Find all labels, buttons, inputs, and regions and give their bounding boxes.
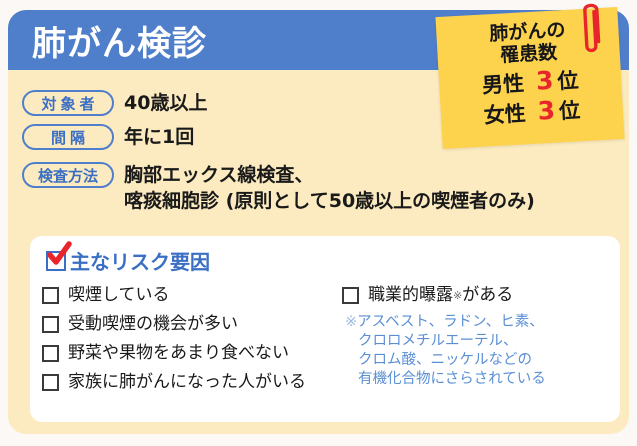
rank-unit-female: 位 [558, 99, 580, 124]
checkbox-icon[interactable] [42, 374, 59, 391]
info-value-method-line2: 喀痰細胞診 (原則として50歳以上の喫煙者のみ) [124, 188, 535, 215]
rank-group-male: 男性 [481, 71, 524, 97]
label-pill-method: 検査方法 [22, 162, 114, 188]
risk-list-left: 喫煙している 受動喫煙の機会が多い 野菜や果物をあまり食べない 家族に肺がんにな… [42, 284, 342, 400]
footnote-line-1-text: アスベスト、ラドン、ヒ素、 [357, 314, 544, 330]
list-item[interactable]: 家族に肺がんになった人がいる [42, 371, 342, 394]
paperclip-icon [573, 1, 606, 61]
list-item[interactable]: 職業的曝露※がある [342, 284, 612, 307]
page-title: 肺がん検診 [32, 16, 207, 65]
list-item[interactable]: 受動喫煙の機会が多い [42, 313, 342, 336]
footnote-marker: ※ [345, 314, 357, 330]
footnote-marker: ※ [453, 289, 462, 302]
list-item[interactable]: 喫煙している [42, 284, 342, 307]
list-item-label: 家族に肺がんになった人がいる [68, 371, 306, 394]
list-item-label: 職業的曝露※がある [368, 284, 513, 307]
info-value-interval: 年に1回 [124, 124, 194, 150]
info-row-target: 対象者 40歳以上 [22, 90, 207, 116]
list-item[interactable]: 野菜や果物をあまり食べない [42, 342, 342, 365]
list-item-label: 喫煙している [68, 284, 170, 307]
list-item-label: 野菜や果物をあまり食べない [68, 342, 289, 365]
footnote-line-1: ※アスベスト、ラドン、ヒ素、 [345, 313, 612, 332]
info-value-method: 胸部エックス線検査、 喀痰細胞診 (原則として50歳以上の喫煙者のみ) [124, 162, 535, 215]
footnote-text: ※アスベスト、ラドン、ヒ素、 クロロメチルエーテル、 クロム酸、ニッケルなどの … [345, 313, 612, 389]
rank-unit-male: 位 [557, 68, 579, 93]
info-value-method-line1: 胸部エックス線検査、 [124, 164, 313, 186]
label-pill-interval: 間隔 [22, 124, 114, 150]
risk-factors-panel: 主なリスク要因 喫煙している 受動喫煙の機会が多い 野菜や果物をあまり食べない … [30, 236, 620, 422]
list-item-label: 受動喫煙の機会が多い [68, 313, 238, 336]
checkbox-icon[interactable] [342, 287, 359, 304]
rank-number-male: 3 [523, 65, 558, 96]
risk-list-right: 職業的曝露※がある ※アスベスト、ラドン、ヒ素、 クロロメチルエーテル、 クロム… [342, 284, 612, 389]
checkbox-icon[interactable] [42, 316, 59, 333]
list-item-text: 職業的曝露 [368, 285, 453, 305]
info-value-target: 40歳以上 [124, 90, 207, 116]
info-row-interval: 間隔 年に1回 [22, 124, 194, 150]
footnote-line-3: クロム酸、ニッケルなどの [345, 351, 612, 370]
risk-factors-heading-label: 主なリスク要因 [70, 246, 210, 275]
risk-factors-heading: 主なリスク要因 [46, 246, 210, 275]
footnote-line-2: クロロメチルエーテル、 [345, 332, 612, 351]
checked-box-icon [46, 251, 66, 271]
check-mark-icon [46, 241, 72, 267]
checkbox-icon[interactable] [42, 287, 59, 304]
rank-number-female: 3 [525, 96, 560, 127]
footnote-line-4: 有機化合物にさらされている [345, 370, 612, 389]
label-pill-target: 対象者 [22, 90, 114, 116]
info-row-method: 検査方法 胸部エックス線検査、 喀痰細胞診 (原則として50歳以上の喫煙者のみ) [22, 162, 535, 215]
list-item-suffix: がある [462, 285, 513, 305]
checkbox-icon[interactable] [42, 345, 59, 362]
rank-group-female: 女性 [483, 102, 526, 128]
